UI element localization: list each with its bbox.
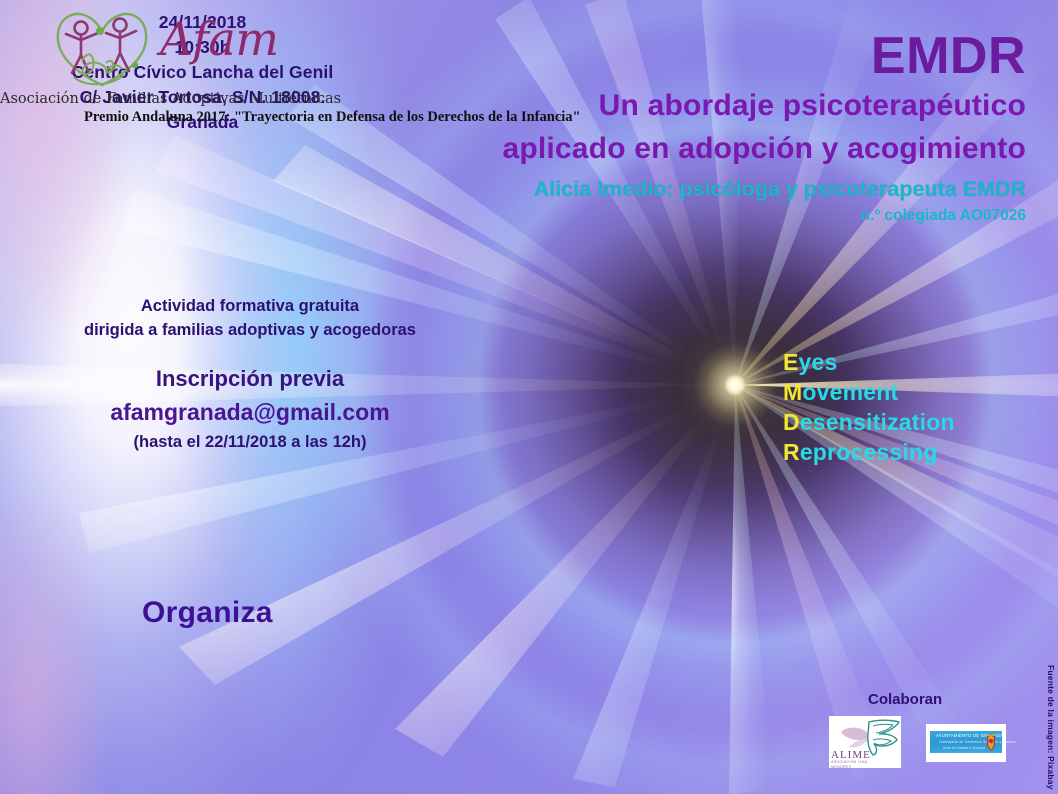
afam-heart-figures-icon [48, 3, 156, 89]
title-block: EMDR Un abordaje psicoterapéutico aplica… [326, 28, 1026, 228]
granada-coat-of-arms-icon [983, 734, 999, 751]
ayuntamiento-line-2: Concejalía de Derechos Sociales y Famili… [939, 740, 1016, 744]
activity-line-1: Actividad formativa gratuita [0, 294, 500, 318]
ayuntamiento-logo-card: AYUNTAMIENTO DE GRANADA Concejalía de De… [926, 724, 1006, 762]
afam-award-text: Premio Andaluna 2017: "Trayectoria en De… [0, 108, 494, 126]
alime-logo-card: ALIME ASOCIACIÓN LIMA MENORES [829, 716, 901, 768]
poster-canvas: 24/11/2018 10:30h Centro Cívico Lancha d… [0, 0, 1058, 794]
ayuntamiento-blue-band: AYUNTAMIENTO DE GRANADA Concejalía de De… [930, 731, 1002, 753]
activity-description-block: Actividad formativa gratuita dirigida a … [0, 294, 500, 342]
expansion-row-desensitization: Desensitization [783, 407, 955, 437]
registration-block: Inscripción previa afamgranada@gmail.com… [0, 363, 500, 455]
expansion-rest-movement: ovement [802, 379, 898, 405]
ayuntamiento-line-3: Área de Familia e Infancia [943, 746, 985, 750]
afam-wordmark: Afam [160, 16, 278, 62]
collaborators-label: Colaboran [868, 691, 942, 708]
organizer-label: Organiza [142, 596, 273, 630]
expansion-cap-e: E [783, 349, 799, 375]
speaker-name: Alicia Imedio: psicóloga y psicoterapeut… [326, 174, 1026, 204]
expansion-row-eyes: Eyes [783, 347, 955, 377]
registration-deadline: (hasta el 22/11/2018 a las 12h) [0, 429, 500, 455]
expansion-cap-r: R [783, 439, 800, 465]
image-credit: Fuente de la imagen: Pixabay [1046, 665, 1056, 790]
registration-title: Inscripción previa [0, 363, 500, 395]
activity-line-2: dirigida a familias adoptivas y acogedor… [0, 318, 500, 342]
alime-subtext: ASOCIACIÓN LIMA MENORES [831, 760, 883, 770]
afam-subtitle: Asociación de Familias Adoptivas Multiét… [0, 90, 305, 108]
expansion-rest-reprocessing: eprocessing [800, 439, 938, 465]
expansion-rest-desensitization: esensitization [800, 409, 955, 435]
expansion-row-reprocessing: Reprocessing [783, 437, 955, 467]
registration-email[interactable]: afamgranada@gmail.com [0, 395, 500, 429]
subtitle-line-2: aplicado en adopción y acogimiento [326, 127, 1026, 170]
expansion-rest-eyes: yes [799, 349, 838, 375]
expansion-cap-d: D [783, 409, 800, 435]
page-title: EMDR [326, 28, 1026, 84]
expansion-cap-m: M [783, 379, 802, 405]
speaker-registration-number: n.º colegiada AO07026 [326, 204, 1026, 228]
emdr-acronym-expansion: Eyes Movement Desensitization Reprocessi… [783, 347, 955, 467]
expansion-row-movement: Movement [783, 377, 955, 407]
